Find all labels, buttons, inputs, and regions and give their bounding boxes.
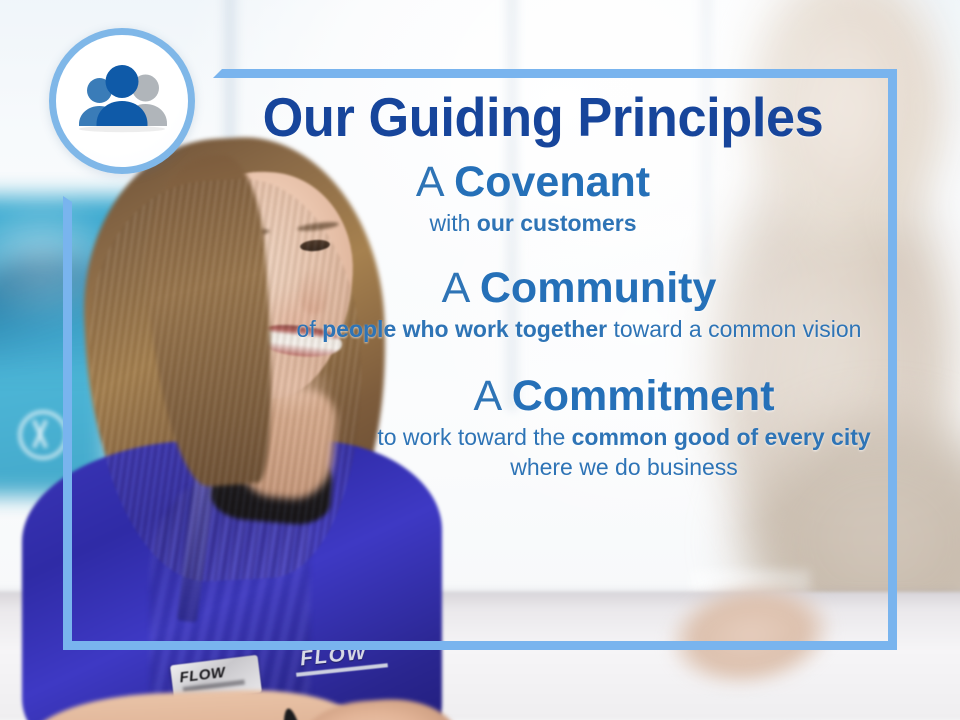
principle-headline: A Covenant: [213, 159, 853, 205]
people-group-icon: [71, 64, 173, 138]
principle-sub-suffix: toward a common vision: [607, 316, 861, 342]
principle-commitment: A Commitment to work toward the common g…: [213, 373, 873, 482]
principle-sub-strong: common good of every city: [572, 424, 871, 450]
principle-keyword: Covenant: [454, 158, 650, 206]
frame-border-left: [63, 196, 72, 650]
principle-covenant: A Covenant with our customers: [213, 159, 873, 239]
principle-sub-strong: our customers: [477, 210, 637, 236]
poster-canvas: FLOW FLOW: [0, 0, 960, 720]
principle-subtext: with our customers: [213, 209, 853, 238]
principle-article: A: [416, 158, 454, 206]
copy-block: Our Guiding Principles A Covenant with o…: [213, 90, 873, 482]
principle-headline: A Commitment: [375, 373, 873, 419]
principle-article: A: [473, 372, 511, 420]
principle-sub-strong: people who work together: [322, 316, 607, 342]
principle-keyword: Commitment: [512, 372, 775, 420]
people-group-icon-badge: [49, 28, 195, 174]
frame-border-bottom: [63, 641, 897, 650]
customer-hand: [642, 557, 858, 714]
principle-subtext: to work toward the common good of every …: [375, 423, 873, 482]
principle-subtext: of people who work together toward a com…: [285, 315, 873, 344]
principle-headline: A Community: [285, 265, 873, 311]
principle-community: A Community of people who work together …: [213, 265, 873, 345]
principle-sub-prefix: of: [297, 316, 323, 342]
principle-keyword: Community: [480, 264, 717, 312]
page-title: Our Guiding Principles: [230, 90, 857, 145]
principle-article: A: [442, 264, 480, 312]
frame-border-top: [213, 69, 897, 78]
frame-border-right: [888, 69, 897, 650]
principle-sub-suffix: where we do business: [510, 454, 738, 480]
principle-sub-prefix: with: [429, 210, 476, 236]
principle-sub-prefix: to work toward the: [377, 424, 571, 450]
